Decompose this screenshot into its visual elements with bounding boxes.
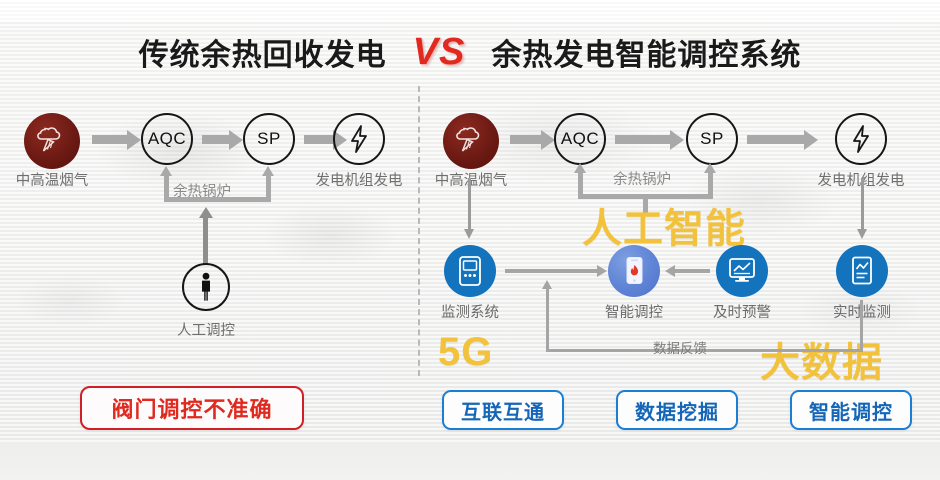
tablet-flame-glyph xyxy=(621,255,647,287)
right-node-early-warn-label: 及时预警 xyxy=(713,301,771,322)
right-callout-box-2: 智能调控 xyxy=(790,390,912,430)
smoke-icon xyxy=(24,113,80,169)
left-node-aqc-text: AQC xyxy=(141,113,193,165)
left-callout-box: 阀门调控不准确 xyxy=(80,386,304,430)
feedback-arrow-up xyxy=(546,288,549,352)
screen-chart-icon xyxy=(716,245,768,297)
left-node-smoke-label: 中高温烟气 xyxy=(16,169,89,190)
right-node-monitor-sys-label: 监测系统 xyxy=(441,301,499,322)
lightning-glyph xyxy=(346,124,372,154)
watermark-5g: 5G xyxy=(438,330,493,375)
left-node-person-label: 人工调控 xyxy=(177,319,235,340)
right-arrow-smoke-to-aqc xyxy=(510,135,542,144)
watermark-bigdata: 大数据 xyxy=(760,330,883,388)
right-arrow-smoke-to-monitor xyxy=(468,178,471,230)
right-node-smart-ctrl-label: 智能调控 xyxy=(605,301,663,322)
right-arrow-aqc-to-sp xyxy=(615,135,671,144)
lightning-icon xyxy=(835,113,887,165)
left-node-generator-label: 发电机组发电 xyxy=(316,169,403,190)
person-glyph xyxy=(197,272,215,302)
left-arrow-sp-to-gen xyxy=(304,135,334,144)
right-node-smart-ctrl: 智能调控 xyxy=(608,245,660,297)
right-node-early-warn: 及时预警 xyxy=(716,245,768,297)
device-monitor-glyph xyxy=(455,254,485,288)
lightning-glyph xyxy=(848,124,874,154)
report-chart-icon xyxy=(836,245,888,297)
smoke-glyph xyxy=(33,122,71,160)
right-arrow-monitor-to-smart xyxy=(505,269,598,273)
tablet-flame-icon xyxy=(608,245,660,297)
right-node-aqc-text: AQC xyxy=(554,113,606,165)
left-arrow-person-to-boiler xyxy=(203,216,208,264)
screen-chart-glyph xyxy=(726,256,758,286)
left-node-person: 人工调控 xyxy=(182,263,230,311)
person-icon xyxy=(182,263,230,311)
feedback-label: 数据反馈 xyxy=(653,337,707,357)
top-white-band xyxy=(0,0,940,22)
smoke-glyph xyxy=(452,122,490,160)
feedback-line-vertical-right xyxy=(860,300,863,352)
left-boiler-label: 余热锅炉 xyxy=(173,180,231,201)
right-arrow-sp-to-gen xyxy=(747,135,805,144)
left-node-aqc: AQC xyxy=(141,113,193,165)
left-node-smoke: 中高温烟气 xyxy=(24,113,80,169)
right-boiler-label: 余热锅炉 xyxy=(613,168,671,189)
right-node-sp-text: SP xyxy=(686,113,738,165)
right-node-aqc: AQC xyxy=(554,113,606,165)
title-right: 余热发电智能调控系统 xyxy=(491,30,801,74)
left-node-sp: SP xyxy=(243,113,295,165)
right-callout-box-0: 互联互通 xyxy=(442,390,564,430)
smoke-icon xyxy=(443,113,499,169)
right-node-generator: 发电机组发电 xyxy=(835,113,887,165)
right-node-smoke: 中高温烟气 xyxy=(443,113,499,169)
device-monitor-icon xyxy=(444,245,496,297)
header: 传统余热回收发电 VS 余热发电智能调控系统 xyxy=(0,24,940,80)
lightning-icon xyxy=(333,113,385,165)
right-arrow-gen-to-realtime xyxy=(861,178,864,230)
left-node-sp-text: SP xyxy=(243,113,295,165)
right-node-smoke-label: 中高温烟气 xyxy=(435,169,508,190)
vs-badge: VS xyxy=(413,31,466,74)
title-left: 传统余热回收发电 xyxy=(139,30,387,74)
right-node-monitor-sys: 监测系统 xyxy=(444,245,496,297)
report-chart-glyph xyxy=(848,255,876,287)
panel-divider xyxy=(418,86,420,376)
right-node-realtime: 实时监测 xyxy=(836,245,888,297)
right-node-sp: SP xyxy=(686,113,738,165)
right-callout-box-1: 数据挖掘 xyxy=(616,390,738,430)
left-node-generator: 发电机组发电 xyxy=(333,113,385,165)
bottom-band xyxy=(0,442,940,480)
right-arrow-warn-to-smart xyxy=(674,269,710,273)
infographic-canvas: 传统余热回收发电 VS 余热发电智能调控系统 中高温烟气 AQC SP xyxy=(0,0,940,480)
left-arrow-smoke-to-aqc xyxy=(92,135,128,144)
left-arrow-aqc-to-sp xyxy=(202,135,230,144)
